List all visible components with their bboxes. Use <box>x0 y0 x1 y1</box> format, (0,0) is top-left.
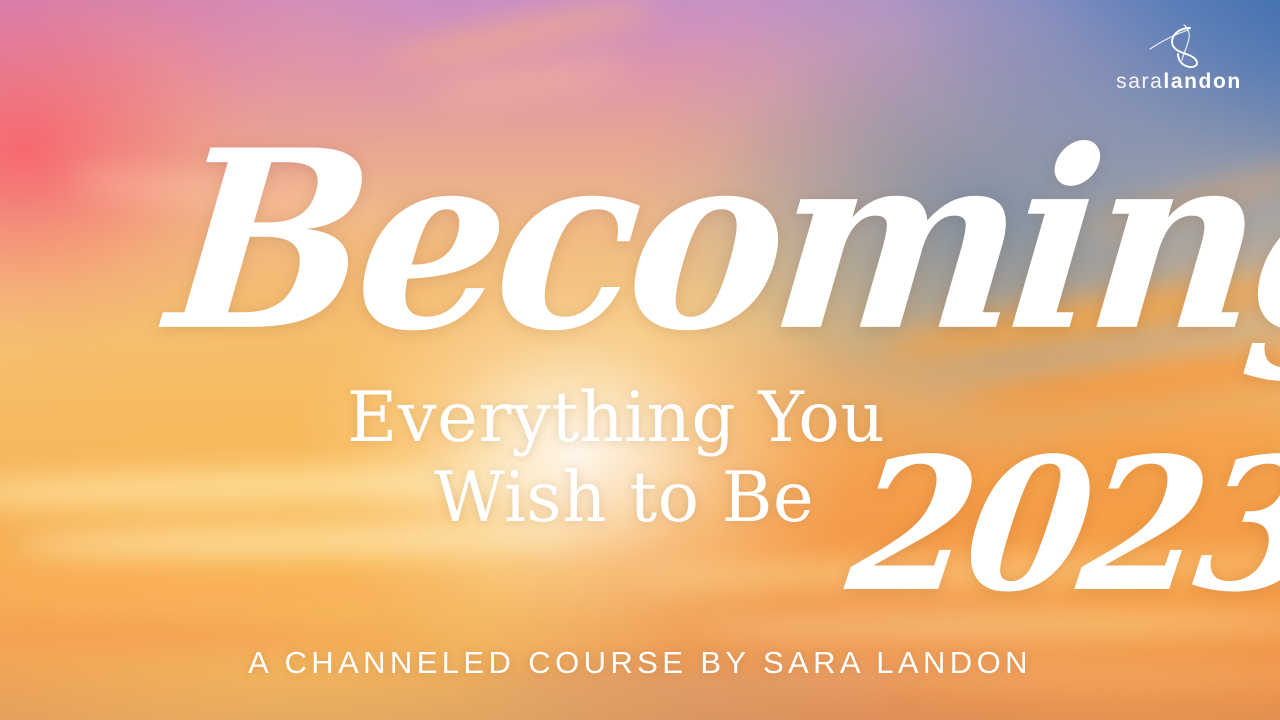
brand-wordmark-landon: landon <box>1163 70 1241 93</box>
promo-graphic-canvas: saralandon Becoming Everything You Wish … <box>0 0 1280 720</box>
cloud-streak <box>380 0 660 79</box>
brand-wordmark: saralandon <box>1104 70 1254 94</box>
brand-logo[interactable]: saralandon <box>1104 22 1254 94</box>
hero-title-becoming: Becoming <box>160 118 1280 364</box>
script-s-monogram-icon <box>1104 22 1254 68</box>
brand-wordmark-sara: sara <box>1116 70 1163 93</box>
hero-year-2023: 2023 <box>840 434 1280 617</box>
hero-tagline: A CHANNELED COURSE BY SARA LANDON <box>0 645 1280 681</box>
cloud-streak <box>0 573 480 608</box>
